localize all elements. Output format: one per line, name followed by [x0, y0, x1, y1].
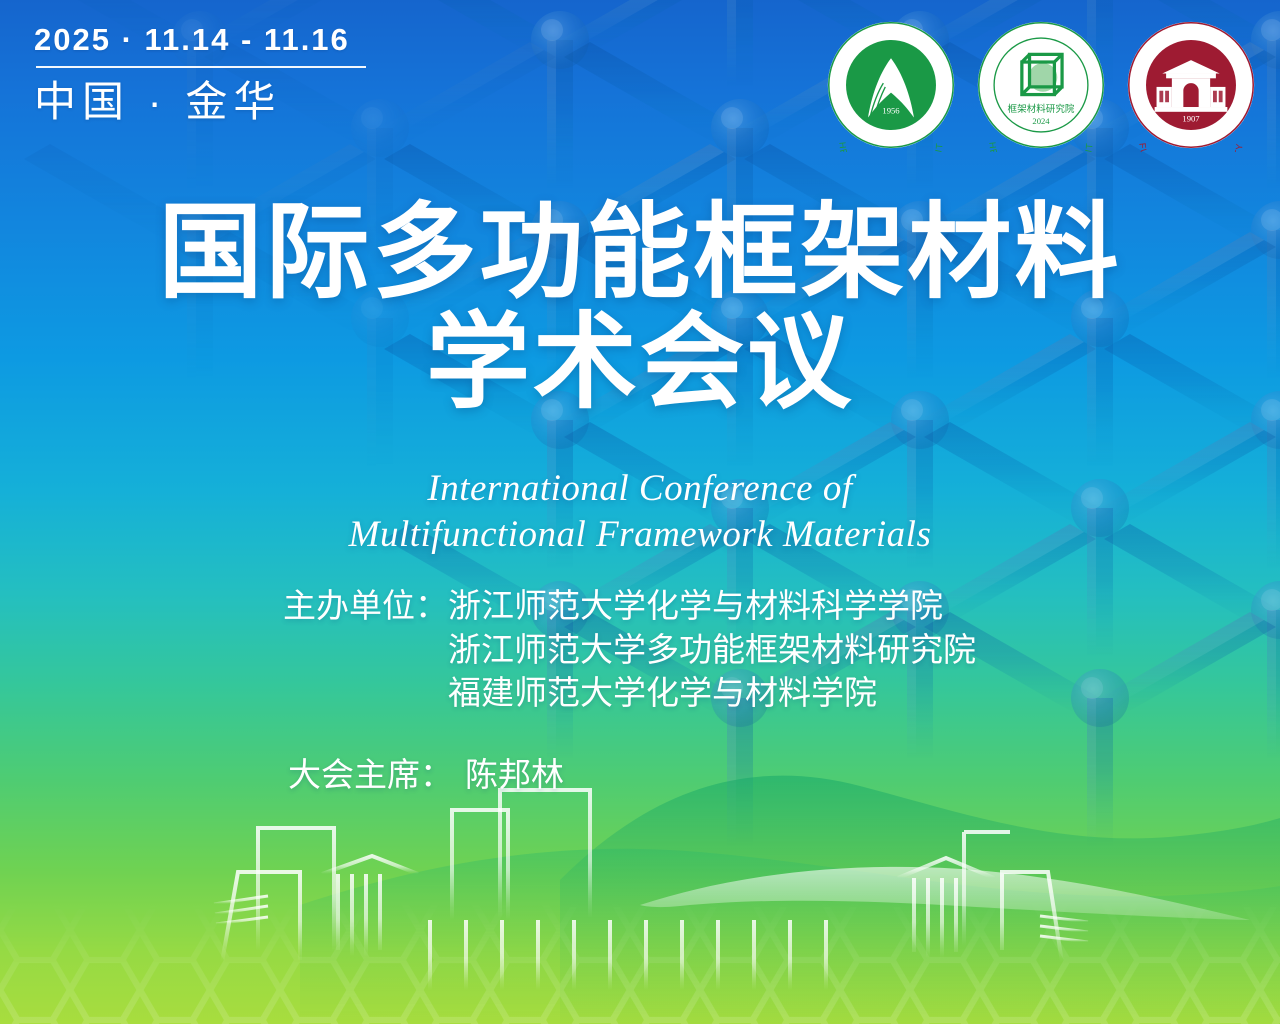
conference-location: 中国 · 金华: [34, 77, 394, 127]
svg-text:框架材料研究院: 框架材料研究院: [1008, 103, 1075, 115]
chair-label: 大会主席：: [288, 753, 453, 797]
organizers-label: 主办单位：: [283, 584, 448, 628]
subtitle-line-1: International Conference of: [0, 466, 1280, 512]
subtitle-line-2: Multifunctional Framework Materials: [0, 512, 1280, 558]
organizers: 主办单位： 浙江师范大学化学与材料科学学院 浙江师范大学多功能框架材料研究院 福…: [283, 584, 1043, 715]
organizer-item: 浙江师范大学多功能框架材料研究院: [448, 628, 976, 672]
organizers-list: 浙江师范大学化学与材料科学学院 浙江师范大学多功能框架材料研究院 福建师范大学化…: [448, 584, 976, 715]
svg-text:2024: 2024: [1032, 116, 1050, 126]
header: 2025 · 11.14 - 11.16 中国 · 金华: [34, 24, 394, 127]
conference-date: 2025 · 11.14 - 11.16: [34, 24, 394, 55]
svg-text:1956: 1956: [882, 106, 900, 116]
conference-chair: 大会主席： 陈邦林: [283, 753, 1043, 797]
conference-subtitle: International Conference of Multifunctio…: [0, 466, 1280, 558]
title-line-2: 学术会议: [0, 308, 1280, 418]
chair-name: 陈邦林: [465, 753, 564, 797]
conference-poster: 2025 · 11.14 - 11.16 中国 · 金华 1956 ZHEJIA…: [0, 0, 1280, 1024]
title-line-1: 国际多功能框架材料: [0, 198, 1280, 308]
conference-info: 主办单位： 浙江师范大学化学与材料科学学院 浙江师范大学多功能框架材料研究院 福…: [283, 584, 1043, 796]
zhejiang-normal-university-logo: 1956 ZHEJIANG NORMAL UNIVERSITY 浙江师范大学: [824, 18, 958, 152]
conference-title: 国际多功能框架材料 学术会议: [0, 198, 1280, 418]
framework-materials-institute-logo: 框架材料研究院 2024 ZHEJIANG NORMAL UNIVERSITY …: [974, 18, 1108, 152]
fujian-normal-university-logo: 1907 FUJIAN NORMAL UNIVERSITY 福建师范大学: [1124, 18, 1258, 152]
organizer-item: 福建师范大学化学与材料学院: [448, 671, 976, 715]
organizer-item: 浙江师范大学化学与材料科学学院: [448, 584, 976, 628]
svg-text:1907: 1907: [1182, 113, 1200, 123]
header-divider: [36, 66, 366, 68]
organizer-logos: 1956 ZHEJIANG NORMAL UNIVERSITY 浙江师范大学 框…: [824, 18, 1258, 152]
